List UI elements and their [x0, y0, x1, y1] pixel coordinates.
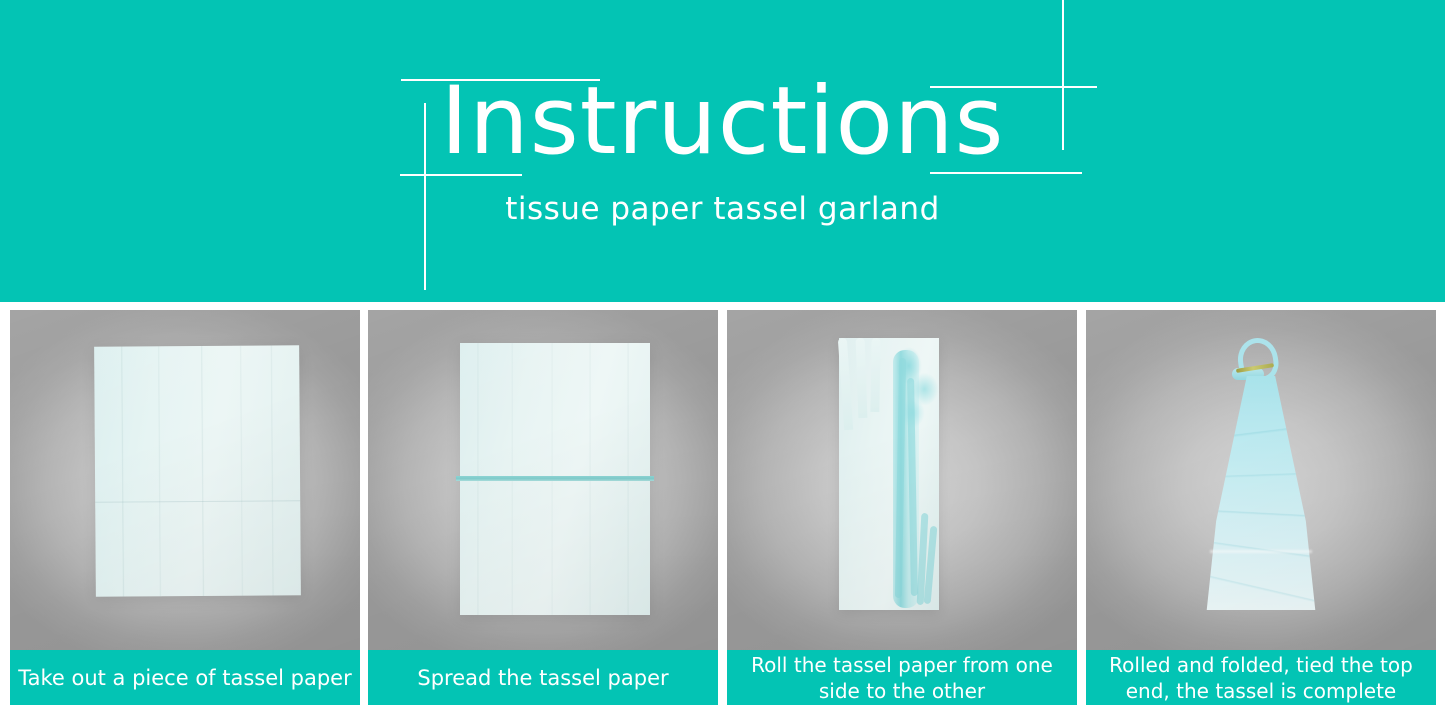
- tassel-layer-edge: [1210, 550, 1312, 553]
- tissue-sheet-spread-illustration: [460, 343, 650, 615]
- step-panel-1: Take out a piece of tassel paper: [10, 310, 360, 705]
- step-2-caption: Spread the tassel paper: [368, 650, 718, 705]
- steps-gallery: Take out a piece of tassel paper Spread …: [0, 302, 1445, 708]
- step-1-photo: [10, 310, 360, 650]
- step-3-photo: [727, 310, 1077, 650]
- step-4-caption: Rolled and folded, tied the top end, the…: [1086, 650, 1436, 705]
- header-banner: Instructions tissue paper tassel garland: [0, 0, 1445, 302]
- page-title: Instructions: [0, 72, 1445, 172]
- instructions-infographic: Instructions tissue paper tassel garland…: [0, 0, 1445, 708]
- step-4-photo: [1086, 310, 1436, 650]
- step-panel-3: Roll the tassel paper from one side to t…: [727, 310, 1077, 705]
- tassel-strand-lines: [1202, 376, 1320, 610]
- step-panel-2: Spread the tassel paper: [368, 310, 718, 705]
- step-3-caption: Roll the tassel paper from one side to t…: [727, 650, 1077, 705]
- fringe-strip: [870, 338, 880, 412]
- step-panel-4: Rolled and folded, tied the top end, the…: [1086, 310, 1436, 705]
- step-1-caption: Take out a piece of tassel paper: [10, 650, 360, 705]
- tissue-sheet-flat-illustration: [94, 345, 301, 596]
- tissue-fold-line: [456, 476, 654, 481]
- tissue-rolled-illustration: [835, 338, 955, 610]
- finished-tassel-illustration: [1198, 338, 1324, 610]
- page-subtitle: tissue paper tassel garland: [0, 190, 1445, 228]
- step-2-photo: [368, 310, 718, 650]
